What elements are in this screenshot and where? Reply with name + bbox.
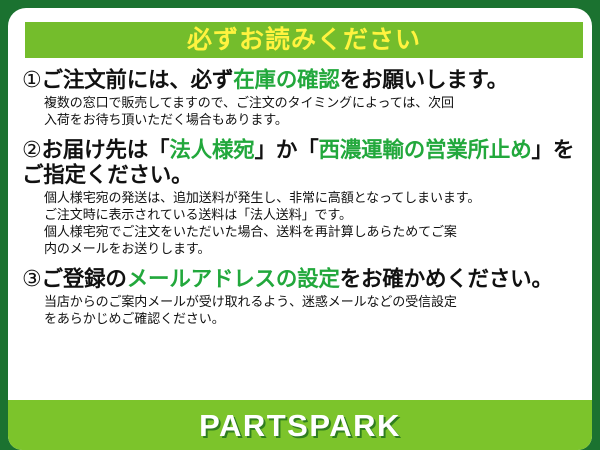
highlight-text: 法人様宛 xyxy=(169,138,254,162)
page-title: 必ずお読みください xyxy=(187,28,421,53)
notice-item-heading: ①ご注文前には、必ず在庫の確認をお願いします。 xyxy=(22,67,582,93)
notice-card: 必ずお読みください ①ご注文前には、必ず在庫の確認をお願いします。複数の窓口で販… xyxy=(0,0,600,450)
bracket-glyph: 「 xyxy=(148,138,169,162)
heading-text: ご登録の xyxy=(42,267,127,291)
notice-item-subline: 個人様宅宛でご注文をいただいた場合、送料を再計算しあらためてご案 xyxy=(44,223,582,240)
highlight-text: メールアドレスの設定 xyxy=(127,267,340,291)
notice-item-subline: 当店からのご案内メールが受け取れるよう、迷惑メールなどの受信設定 xyxy=(44,293,582,310)
notice-item-marker: ③ xyxy=(22,266,42,291)
bracket-glyph: 」 xyxy=(532,138,553,162)
notice-item-marker: ① xyxy=(22,67,42,92)
notice-item-subline: ご注文時に表示されている送料は「法人送料」です。 xyxy=(44,206,582,223)
notice-item: ③ご登録のメールアドレスの設定をお確かめください。当店からのご案内メールが受け取… xyxy=(22,266,582,327)
notice-item-subline: 入荷をお待ち頂いただく場合もあります。 xyxy=(44,111,582,128)
notice-card-inner: 必ずお読みください ①ご注文前には、必ず在庫の確認をお願いします。複数の窓口で販… xyxy=(8,8,592,450)
notice-item-subline: 個人様宅宛の発送は、追加送料が発生し、非常に高額となってしまいます。 xyxy=(44,189,582,206)
notice-item-subline: 内のメールをお送りします。 xyxy=(44,240,582,257)
notice-item: ①ご注文前には、必ず在庫の確認をお願いします。複数の窓口で販売してますので、ご注… xyxy=(22,67,582,128)
heading-text: をお願いします。 xyxy=(340,68,508,92)
notice-item-subline: をあらかじめご確認ください。 xyxy=(44,310,582,327)
notice-item-marker: ② xyxy=(22,137,42,162)
heading-text: お届け先は xyxy=(42,138,149,162)
notice-item-heading: ③ご登録のメールアドレスの設定をお確かめください。 xyxy=(22,266,582,292)
highlight-text: 在庫の確認 xyxy=(233,68,340,92)
footer-bar: PARTSPARK xyxy=(8,400,592,450)
notice-item-heading: ②お届け先は「法人様宛」か「西濃運輸の営業所止め」をご指定ください。 xyxy=(22,137,582,188)
notice-item: ②お届け先は「法人様宛」か「西濃運輸の営業所止め」をご指定ください。個人様宅宛の… xyxy=(22,137,582,257)
heading-text: ご注文前には、必ず xyxy=(42,68,234,92)
bracket-glyph: 」 xyxy=(255,138,276,162)
highlight-text: 西濃運輸の営業所止め xyxy=(319,138,532,162)
brand-logo: PARTSPARK xyxy=(199,410,401,441)
heading-text: か xyxy=(276,138,297,162)
notice-list: ①ご注文前には、必ず在庫の確認をお願いします。複数の窓口で販売してますので、ご注… xyxy=(8,58,592,450)
notice-item-subline: 複数の窓口で販売してますので、ご注文のタイミングによっては、次回 xyxy=(44,94,582,111)
bracket-glyph: 「 xyxy=(297,138,318,162)
header-banner: 必ずお読みください xyxy=(25,22,583,58)
heading-text: をお確かめください。 xyxy=(340,267,553,291)
